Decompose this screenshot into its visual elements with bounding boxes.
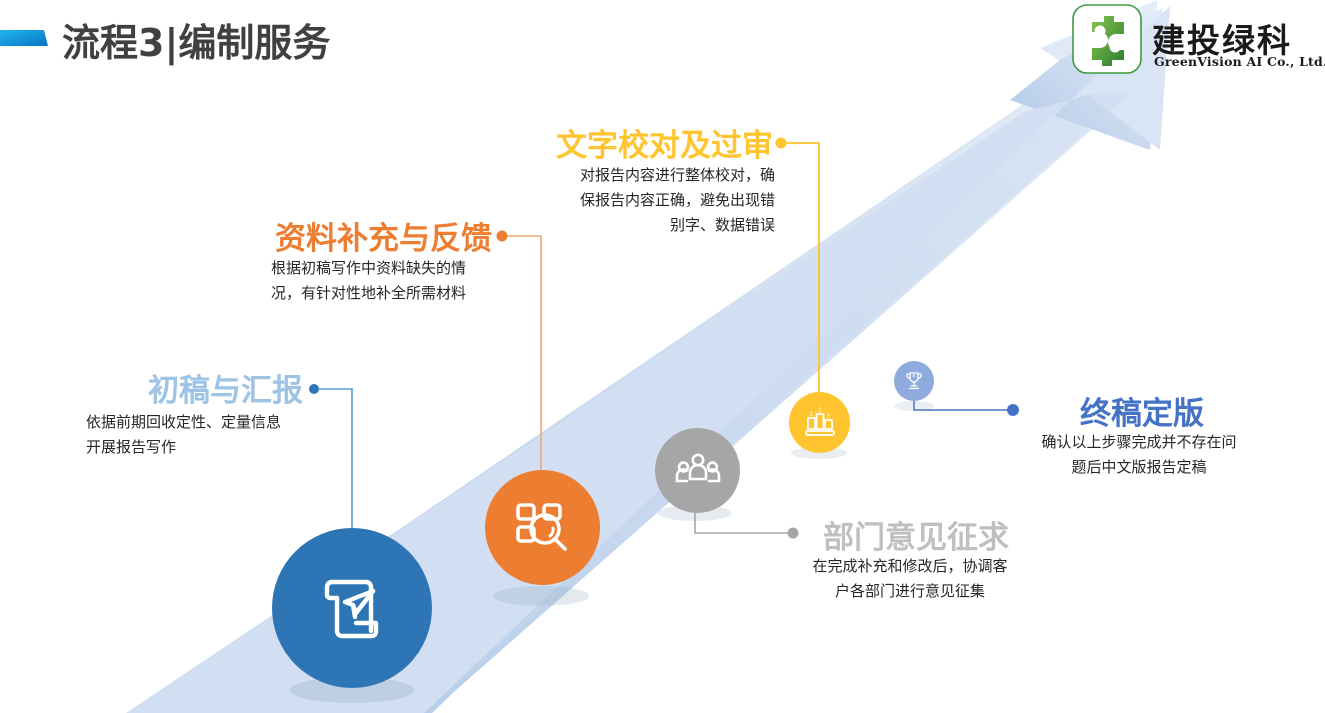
step-node-4[interactable]: 2 1 3 bbox=[789, 392, 850, 453]
step-desc-5: 确认以上步骤完成并不存在问 题后中文版报告定稿 bbox=[1014, 430, 1264, 480]
step-desc-4: 在完成补充和修改后，协调客 户各部门进行意见征集 bbox=[785, 554, 1035, 604]
scroll-paper-plane-icon bbox=[309, 565, 395, 651]
step-title-2: 资料补充与反馈 bbox=[275, 213, 492, 258]
step-desc-1: 依据前期回收定性、定量信息 开展报告写作 bbox=[86, 410, 326, 460]
step-desc-2: 根据初稿写作中资料缺失的情 况，有针对性地补全所需材料 bbox=[271, 256, 516, 306]
step-title-5: 终稿定版 bbox=[1080, 388, 1204, 433]
svg-text:2: 2 bbox=[809, 411, 813, 418]
step-desc-3: 对报告内容进行整体校对，确 保报告内容正确，避免出现错 别字、数据错误 bbox=[530, 163, 775, 238]
step-node-3[interactable] bbox=[655, 428, 740, 513]
svg-text:¥: ¥ bbox=[912, 374, 915, 380]
step-node-1[interactable] bbox=[272, 528, 432, 688]
data-search-icon bbox=[510, 495, 576, 561]
step-title-3: 文字校对及过审 bbox=[556, 120, 773, 165]
node-shadows bbox=[0, 0, 1325, 713]
slide-canvas: 流程3|编制服务 建投绿科 GreenVision AI Co., Ltd. bbox=[0, 0, 1325, 713]
step-title-4: 部门意见征求 bbox=[823, 512, 1009, 557]
step-node-5[interactable]: ¥ bbox=[894, 361, 934, 401]
svg-text:3: 3 bbox=[826, 413, 830, 420]
people-group-icon bbox=[674, 447, 722, 495]
podium-ranking-icon: 2 1 3 bbox=[802, 405, 838, 441]
svg-text:1: 1 bbox=[818, 407, 822, 414]
step-title-1: 初稿与汇报 bbox=[148, 365, 303, 410]
trophy-icon: ¥ bbox=[902, 369, 926, 393]
step-node-2[interactable] bbox=[485, 470, 600, 585]
